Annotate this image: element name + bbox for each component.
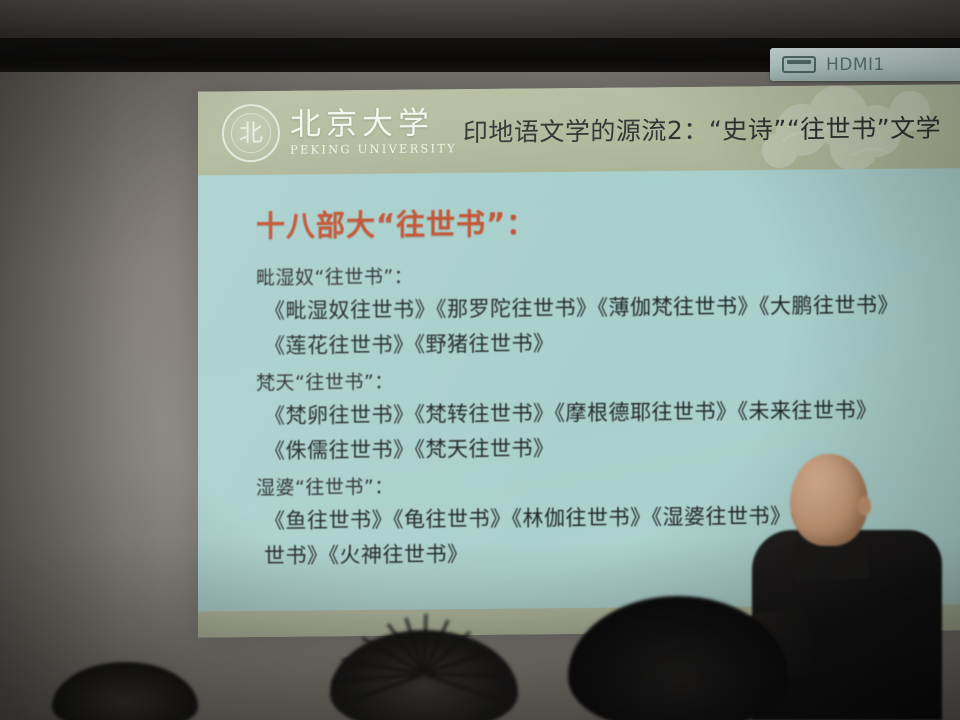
peking-university-seal-icon: 北	[222, 104, 280, 163]
university-name-cn: 北京大学	[290, 107, 457, 141]
hdmi-port-icon	[782, 56, 816, 73]
university-wordmark: 北京大学 PEKING UNIVERSITY	[290, 107, 457, 156]
photo-scene: HDMI1	[0, 0, 960, 720]
lecturer-ear	[858, 496, 871, 516]
audience-hair-texture	[318, 612, 528, 720]
seal-inner-glyph: 北	[239, 121, 263, 145]
hdmi-input-overlay: HDMI1	[770, 48, 960, 81]
group-line: 《毗湿奴往世书》《那罗陀往世书》《薄伽梵往世书》《大鹏往世书》	[264, 290, 942, 327]
group-heading: 毗湿奴“往世书”：	[256, 257, 942, 291]
slide-header-band: 北 北京大学 PEKING UNIVERSITY 印地语文学的源流2：“史诗”“…	[198, 84, 960, 175]
slide-group-vishnu: 毗湿奴“往世书”： 《毗湿奴往世书》《那罗陀往世书》《薄伽梵往世书》《大鹏往世书…	[242, 257, 942, 363]
group-heading: 梵天“往世书”：	[256, 361, 942, 395]
group-line: 《梵卵往世书》《梵转往世书》《摩根德耶往世书》《未来往世书》	[264, 394, 942, 431]
university-name-en: PEKING UNIVERSITY	[290, 141, 457, 157]
slide-main-title: 十八部大“往世书”：	[256, 197, 942, 246]
lecturer-head	[790, 454, 868, 546]
hdmi-input-label: HDMI1	[826, 55, 885, 75]
group-line: 《莲花往世书》《野猪往世书》	[264, 325, 942, 362]
slide-header-title: 印地语文学的源流2：“史诗”“往世书”文学	[463, 109, 941, 150]
